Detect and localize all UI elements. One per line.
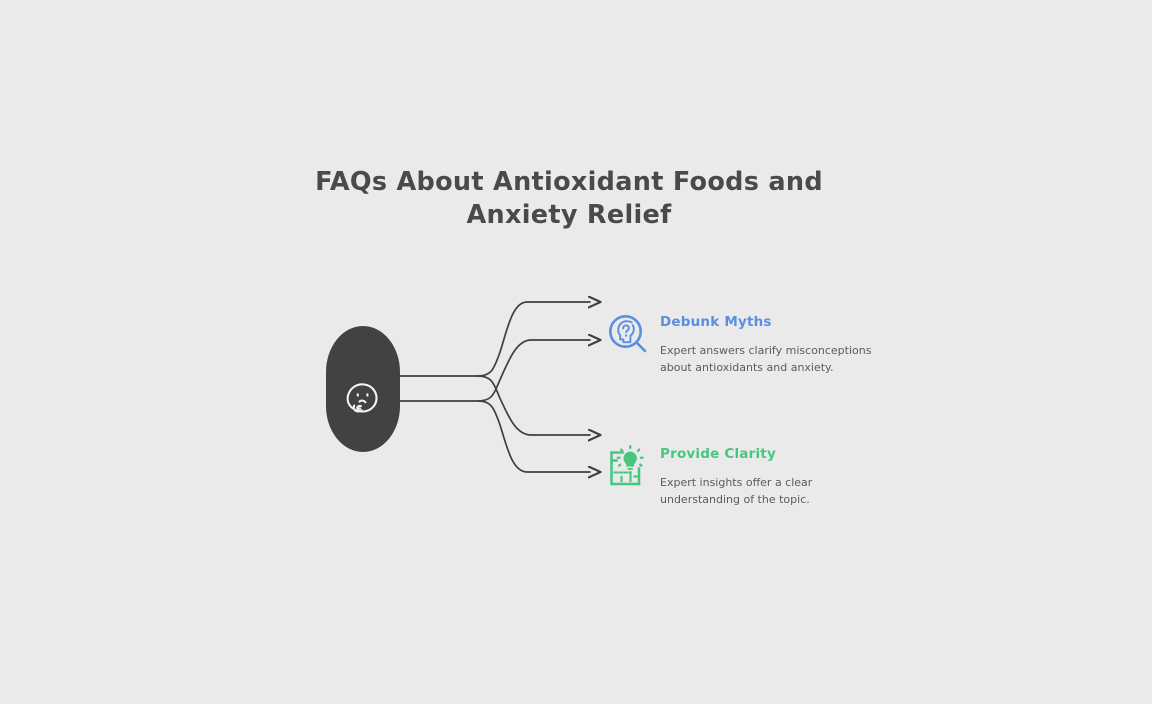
magnifier-head-question-icon xyxy=(606,312,650,360)
connector-path-4 xyxy=(478,401,590,472)
card-debunk-title: Debunk Myths xyxy=(660,314,871,330)
connector-path-2 xyxy=(398,340,590,401)
thinking-face-icon xyxy=(339,374,387,422)
infographic-canvas: FAQs About Antioxidant Foods and Anxiety… xyxy=(0,0,1152,704)
connector-path-1 xyxy=(398,302,590,376)
card-clarity-title: Provide Clarity xyxy=(660,446,812,462)
card-debunk-myths[interactable]: Debunk Myths Expert answers clarify misc… xyxy=(606,312,871,376)
card-clarity-desc-line-2: understanding of the topic. xyxy=(660,492,812,509)
blueprint-lightbulb-icon xyxy=(606,444,650,492)
card-clarity-desc-line-1: Expert insights offer a clear xyxy=(660,475,812,492)
thinking-face-node xyxy=(326,326,400,452)
card-clarity-body: Provide Clarity Expert insights offer a … xyxy=(660,444,812,508)
card-clarity-description: Expert insights offer a clear understand… xyxy=(660,475,812,508)
card-debunk-desc-line-2: about antioxidants and anxiety. xyxy=(660,360,871,377)
connector-arrows xyxy=(0,0,1152,704)
card-provide-clarity[interactable]: Provide Clarity Expert insights offer a … xyxy=(606,444,812,508)
connector-path-3 xyxy=(478,376,590,435)
card-debunk-description: Expert answers clarify misconceptions ab… xyxy=(660,343,871,376)
card-debunk-desc-line-1: Expert answers clarify misconceptions xyxy=(660,343,871,360)
card-debunk-body: Debunk Myths Expert answers clarify misc… xyxy=(660,312,871,376)
